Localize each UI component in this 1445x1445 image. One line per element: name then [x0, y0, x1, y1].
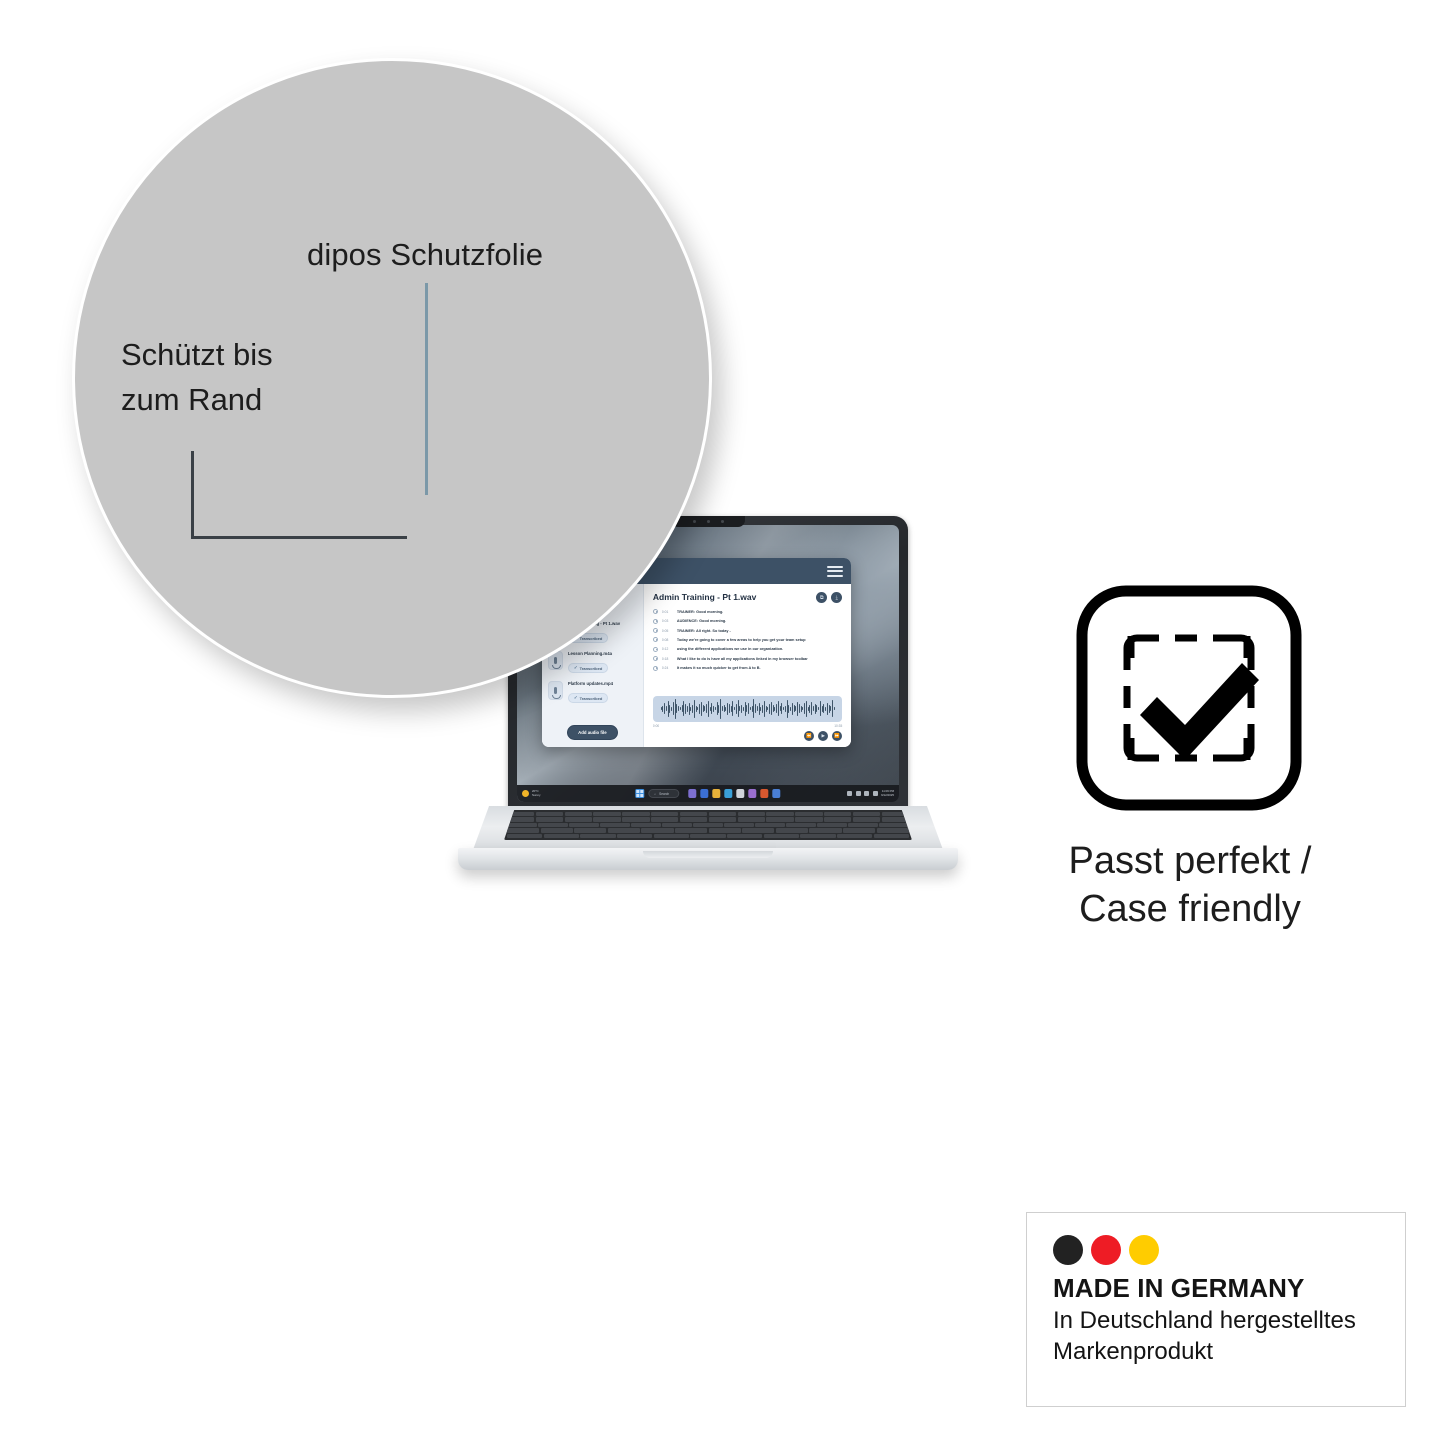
player-controls: ⏪ ▶ ⏩	[653, 731, 842, 741]
wifi-icon[interactable]	[856, 791, 861, 796]
time-end: 10:35	[834, 724, 842, 728]
made-in-germany-line1: In Deutschland hergestelltes	[1053, 1306, 1379, 1337]
callout-subtitle-line2: zum Rand	[121, 378, 273, 423]
taskbar-clock[interactable]: 11:06 PM 9/12/2025	[881, 790, 894, 797]
flag-dot-gold	[1129, 1235, 1159, 1265]
app-icon-notes[interactable]	[736, 789, 745, 798]
app-icon-office[interactable]	[760, 789, 769, 798]
clock-icon	[653, 656, 658, 661]
case-friendly-line2: Case friendly	[1025, 886, 1355, 934]
case-friendly-label: Passt perfekt / Case friendly	[1025, 838, 1355, 934]
callout-corner-bracket	[191, 451, 407, 539]
system-tray: 11:06 PM 9/12/2025	[847, 790, 894, 797]
germany-flag-dots	[1053, 1235, 1379, 1265]
audio-player: 0:00 10:35 ⏪ ▶ ⏩	[653, 696, 842, 741]
copy-icon[interactable]: ⧉	[816, 592, 827, 603]
windows-taskbar: 20°C Sunny ⌕ Search	[517, 785, 899, 802]
transcript-lines: 0:01 TRAINER: Good morning. 0:03 AUDIENC…	[653, 609, 842, 670]
search-icon: ⌕	[654, 792, 656, 796]
waveform-times: 0:00 10:35	[653, 724, 842, 728]
clock-icon	[653, 628, 658, 633]
weather-condition: Sunny	[532, 793, 541, 797]
transcript-line: 0:12 using the different applications we…	[653, 647, 842, 652]
list-item[interactable]: Lesson Planning.m4a ✓Transcribed	[548, 651, 637, 674]
flag-dot-red	[1091, 1235, 1121, 1265]
battery-icon[interactable]	[873, 791, 878, 796]
hamburger-menu-icon[interactable]	[827, 566, 843, 577]
callout-vertical-line	[425, 283, 428, 495]
laptop-front-edge	[458, 848, 958, 870]
check-icon: ✓	[574, 666, 578, 671]
search-placeholder: Search	[659, 792, 669, 796]
play-icon[interactable]: ▶	[818, 731, 828, 741]
status-badge: ✓Transcribed	[568, 663, 608, 673]
keyboard	[504, 810, 912, 840]
callout-title: dipos Schutzfolie	[307, 237, 543, 273]
app-icon-edge[interactable]	[772, 789, 781, 798]
transcript-line: 0:01 TRAINER: Good morning.	[653, 609, 842, 614]
made-in-germany-line2: Markenprodukt	[1053, 1337, 1379, 1368]
waveform[interactable]	[653, 696, 842, 722]
app-icon-chat[interactable]	[700, 789, 709, 798]
transcript-line: 0:08 Today we're going to cover a few ar…	[653, 637, 842, 642]
transcript-line: 0:05 TRAINER: All right. So today -	[653, 628, 842, 633]
weather-icon	[522, 790, 529, 797]
rewind-icon[interactable]: ⏪	[804, 731, 814, 741]
clock-icon	[653, 666, 658, 671]
webcam-notch	[671, 516, 745, 527]
front-notch	[643, 851, 773, 858]
check-icon: ✓	[574, 696, 578, 701]
search-input[interactable]: ⌕ Search	[648, 789, 679, 798]
time-start: 0:00	[653, 724, 659, 728]
taskbar-weather[interactable]: 20°C Sunny	[522, 790, 541, 797]
file-name: Platform updates.mp4	[568, 681, 637, 686]
page-title: Admin Training - Pt 1.wav	[653, 592, 756, 602]
app-icon-explorer[interactable]	[712, 789, 721, 798]
volume-icon[interactable]	[864, 791, 869, 796]
check-in-frame-icon	[1073, 582, 1305, 814]
flag-dot-black	[1053, 1235, 1083, 1265]
made-in-germany-badge: MADE IN GERMANY In Deutschland hergestel…	[1026, 1212, 1406, 1407]
list-item[interactable]: Platform updates.mp4 ✓Transcribed	[548, 681, 637, 704]
status-badge: ✓Transcribed	[568, 693, 608, 703]
add-audio-file-button[interactable]: Add audio file	[567, 725, 617, 740]
transcript-line: 0:03 AUDIENCE: Good morning.	[653, 619, 842, 624]
circle-callout: dipos Schutzfolie Schützt bis zum Rand	[72, 58, 712, 698]
transcript-header: Admin Training - Pt 1.wav ⧉ ⤓	[653, 592, 842, 603]
taskbar-apps	[688, 789, 781, 798]
download-icon[interactable]: ⤓	[831, 592, 842, 603]
clock-icon	[653, 647, 658, 652]
chevron-up-icon[interactable]	[847, 791, 852, 796]
clock-icon	[653, 619, 658, 624]
clock-icon	[653, 609, 658, 614]
transcript-panel: Admin Training - Pt 1.wav ⧉ ⤓ 0:01	[644, 584, 851, 746]
callout-subtitle-line1: Schützt bis	[121, 333, 273, 378]
app-icon-taskview[interactable]	[688, 789, 697, 798]
clock-icon	[653, 637, 658, 642]
made-in-germany-heading: MADE IN GERMANY	[1053, 1273, 1379, 1304]
callout-subtitle: Schützt bis zum Rand	[121, 333, 273, 423]
file-name: Lesson Planning.m4a	[568, 651, 637, 656]
app-icon-onedrive[interactable]	[748, 789, 757, 798]
start-button[interactable]	[635, 789, 644, 798]
transcript-line: 0:24 It makes it so much quicker to get …	[653, 666, 842, 671]
product-image-canvas: dipos Schutzfolie Schützt bis zum Rand A…	[0, 0, 1445, 1445]
laptop-base	[458, 806, 958, 878]
app-icon-store[interactable]	[724, 789, 733, 798]
case-friendly-line1: Passt perfekt /	[1025, 838, 1355, 886]
transcript-line: 0:18 What I like to do is have all my ap…	[653, 656, 842, 661]
forward-icon[interactable]: ⏩	[832, 731, 842, 741]
microphone-icon	[548, 681, 563, 700]
